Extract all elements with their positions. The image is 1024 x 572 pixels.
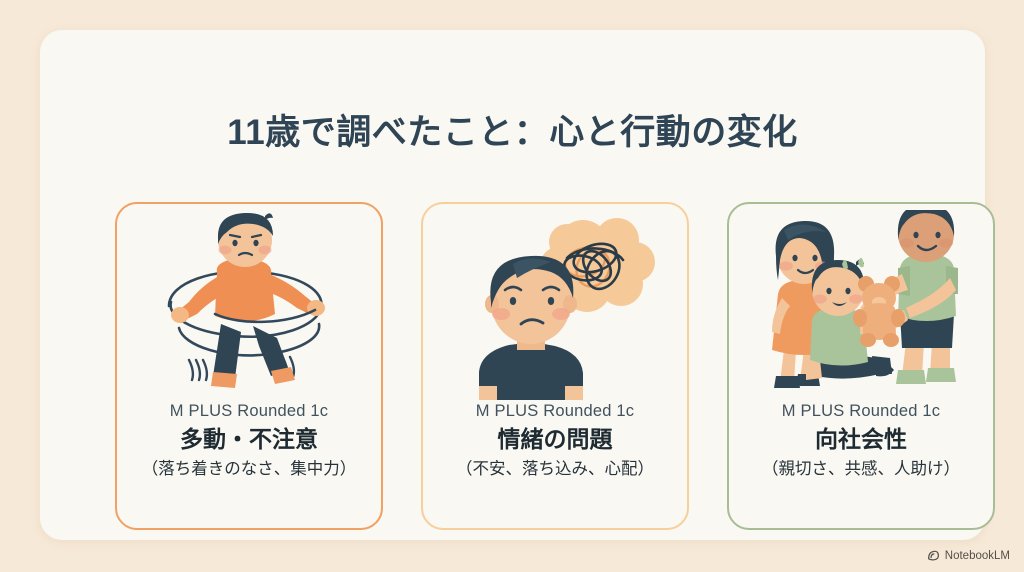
card-emotional-problems[interactable]: M PLUS Rounded 1c 情緒の問題 （不安、落ち込み、心配） [421,202,689,530]
card-hyperactivity[interactable]: M PLUS Rounded 1c 多動・不注意 （落ち着きのなさ、集中力） [115,202,383,530]
card-label-jp: 向社会性 [735,423,987,456]
card-label-sub: （不安、落ち込み、心配） [429,458,681,481]
children-sharing-teddy-icon [729,204,993,400]
notebooklm-watermark: NotebookLM [927,549,1010,562]
notebooklm-logo-icon [927,549,940,562]
page-title: 11歳で調べたこと：心と行動の変化 [40,104,985,155]
slide-canvas: 11歳で調べたこと：心と行動の変化 [0,0,1024,572]
notebooklm-label: NotebookLM [945,550,1010,562]
card-label-en: M PLUS Rounded 1c [735,400,987,422]
card-prosocial[interactable]: M PLUS Rounded 1c 向社会性 （親切さ、共感、人助け） [727,202,995,530]
card-label-jp: 多動・不注意 [123,423,375,456]
sad-child-thought-bubble-icon [423,204,687,400]
card-text-block: M PLUS Rounded 1c 多動・不注意 （落ち着きのなさ、集中力） [117,400,381,481]
card-label-en: M PLUS Rounded 1c [123,400,375,422]
slide-panel: 11歳で調べたこと：心と行動の変化 [40,30,985,540]
card-text-block: M PLUS Rounded 1c 向社会性 （親切さ、共感、人助け） [729,400,993,481]
card-label-en: M PLUS Rounded 1c [429,400,681,422]
running-child-motion-icon [117,204,381,400]
card-label-jp: 情緒の問題 [429,423,681,456]
card-label-sub: （親切さ、共感、人助け） [735,458,987,481]
card-label-sub: （落ち着きのなさ、集中力） [123,458,375,481]
card-text-block: M PLUS Rounded 1c 情緒の問題 （不安、落ち込み、心配） [423,400,687,481]
card-row: M PLUS Rounded 1c 多動・不注意 （落ち着きのなさ、集中力） [115,202,995,530]
